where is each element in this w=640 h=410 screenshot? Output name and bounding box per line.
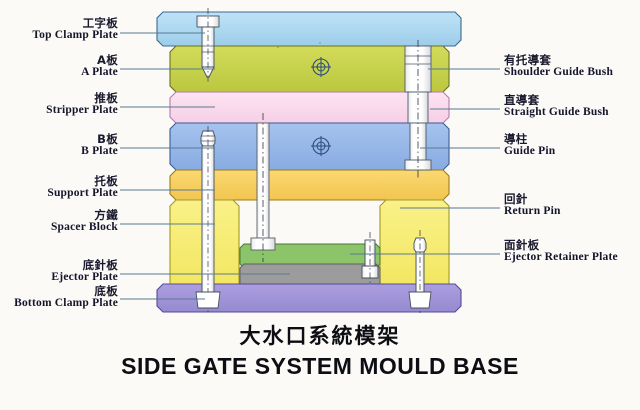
- label-bottom-clamp-plate: 底板 Bottom Clamp Plate: [0, 286, 118, 309]
- label-a-plate-cn: A板: [0, 55, 118, 67]
- label-a-plate: A板 A Plate: [0, 55, 118, 78]
- label-straight-guide-bush-en: Straight Guide Bush: [504, 107, 640, 119]
- label-ejector-plate-en: Ejector Plate: [0, 272, 118, 284]
- label-stripper-plate-en: Stripper Plate: [0, 105, 118, 117]
- label-support-plate-en: Support Plate: [0, 188, 118, 200]
- label-straight-guide-bush-cn: 直導套: [504, 95, 640, 107]
- label-straight-guide-bush: 直導套 Straight Guide Bush: [504, 95, 640, 118]
- label-bottom-clamp-plate-cn: 底板: [0, 286, 118, 298]
- label-a-plate-en: A Plate: [0, 67, 118, 79]
- label-guide-pin-en: Guide Pin: [504, 146, 640, 158]
- label-shoulder-guide-bush-cn: 有托導套: [504, 55, 640, 67]
- label-b-plate-cn: B板: [0, 134, 118, 146]
- diagram-title: 大水口系統模架 SIDE GATE SYSTEM MOULD BASE: [0, 320, 640, 380]
- label-return-pin-cn: 回針: [504, 194, 640, 206]
- label-top-clamp-plate-en: Top Clamp Plate: [0, 30, 118, 42]
- label-return-pin: 回針 Return Pin: [504, 194, 640, 217]
- label-guide-pin-cn: 導柱: [504, 134, 640, 146]
- label-spacer-block-en: Spacer Block: [0, 222, 118, 234]
- label-top-clamp-plate: 工字板 Top Clamp Plate: [0, 18, 118, 41]
- label-support-plate-cn: 托板: [0, 176, 118, 188]
- label-ejector-plate-cn: 底針板: [0, 260, 118, 272]
- label-bottom-clamp-plate-en: Bottom Clamp Plate: [0, 298, 118, 310]
- label-spacer-block: 方鐵 Spacer Block: [0, 210, 118, 233]
- label-stripper-plate: 推板 Stripper Plate: [0, 93, 118, 116]
- label-ejector-retainer-plate-cn: 面針板: [504, 240, 640, 252]
- title-chinese: 大水口系統模架: [0, 320, 640, 350]
- label-ejector-retainer-plate: 面針板 Ejector Retainer Plate: [504, 240, 640, 263]
- label-shoulder-guide-bush-en: Shoulder Guide Bush: [504, 67, 640, 79]
- label-return-pin-en: Return Pin: [504, 206, 640, 218]
- label-shoulder-guide-bush: 有托導套 Shoulder Guide Bush: [504, 55, 640, 78]
- label-support-plate: 托板 Support Plate: [0, 176, 118, 199]
- label-ejector-plate: 底針板 Ejector Plate: [0, 260, 118, 283]
- label-guide-pin: 導柱 Guide Pin: [504, 134, 640, 157]
- title-english: SIDE GATE SYSTEM MOULD BASE: [0, 353, 640, 380]
- label-spacer-block-cn: 方鐵: [0, 210, 118, 222]
- label-stripper-plate-cn: 推板: [0, 93, 118, 105]
- label-top-clamp-plate-cn: 工字板: [0, 18, 118, 30]
- label-b-plate-en: B Plate: [0, 146, 118, 158]
- label-b-plate: B板 B Plate: [0, 134, 118, 157]
- label-ejector-retainer-plate-en: Ejector Retainer Plate: [504, 252, 640, 264]
- diagram-canvas: 工字板 Top Clamp Plate A板 A Plate 推板 Stripp…: [0, 0, 640, 410]
